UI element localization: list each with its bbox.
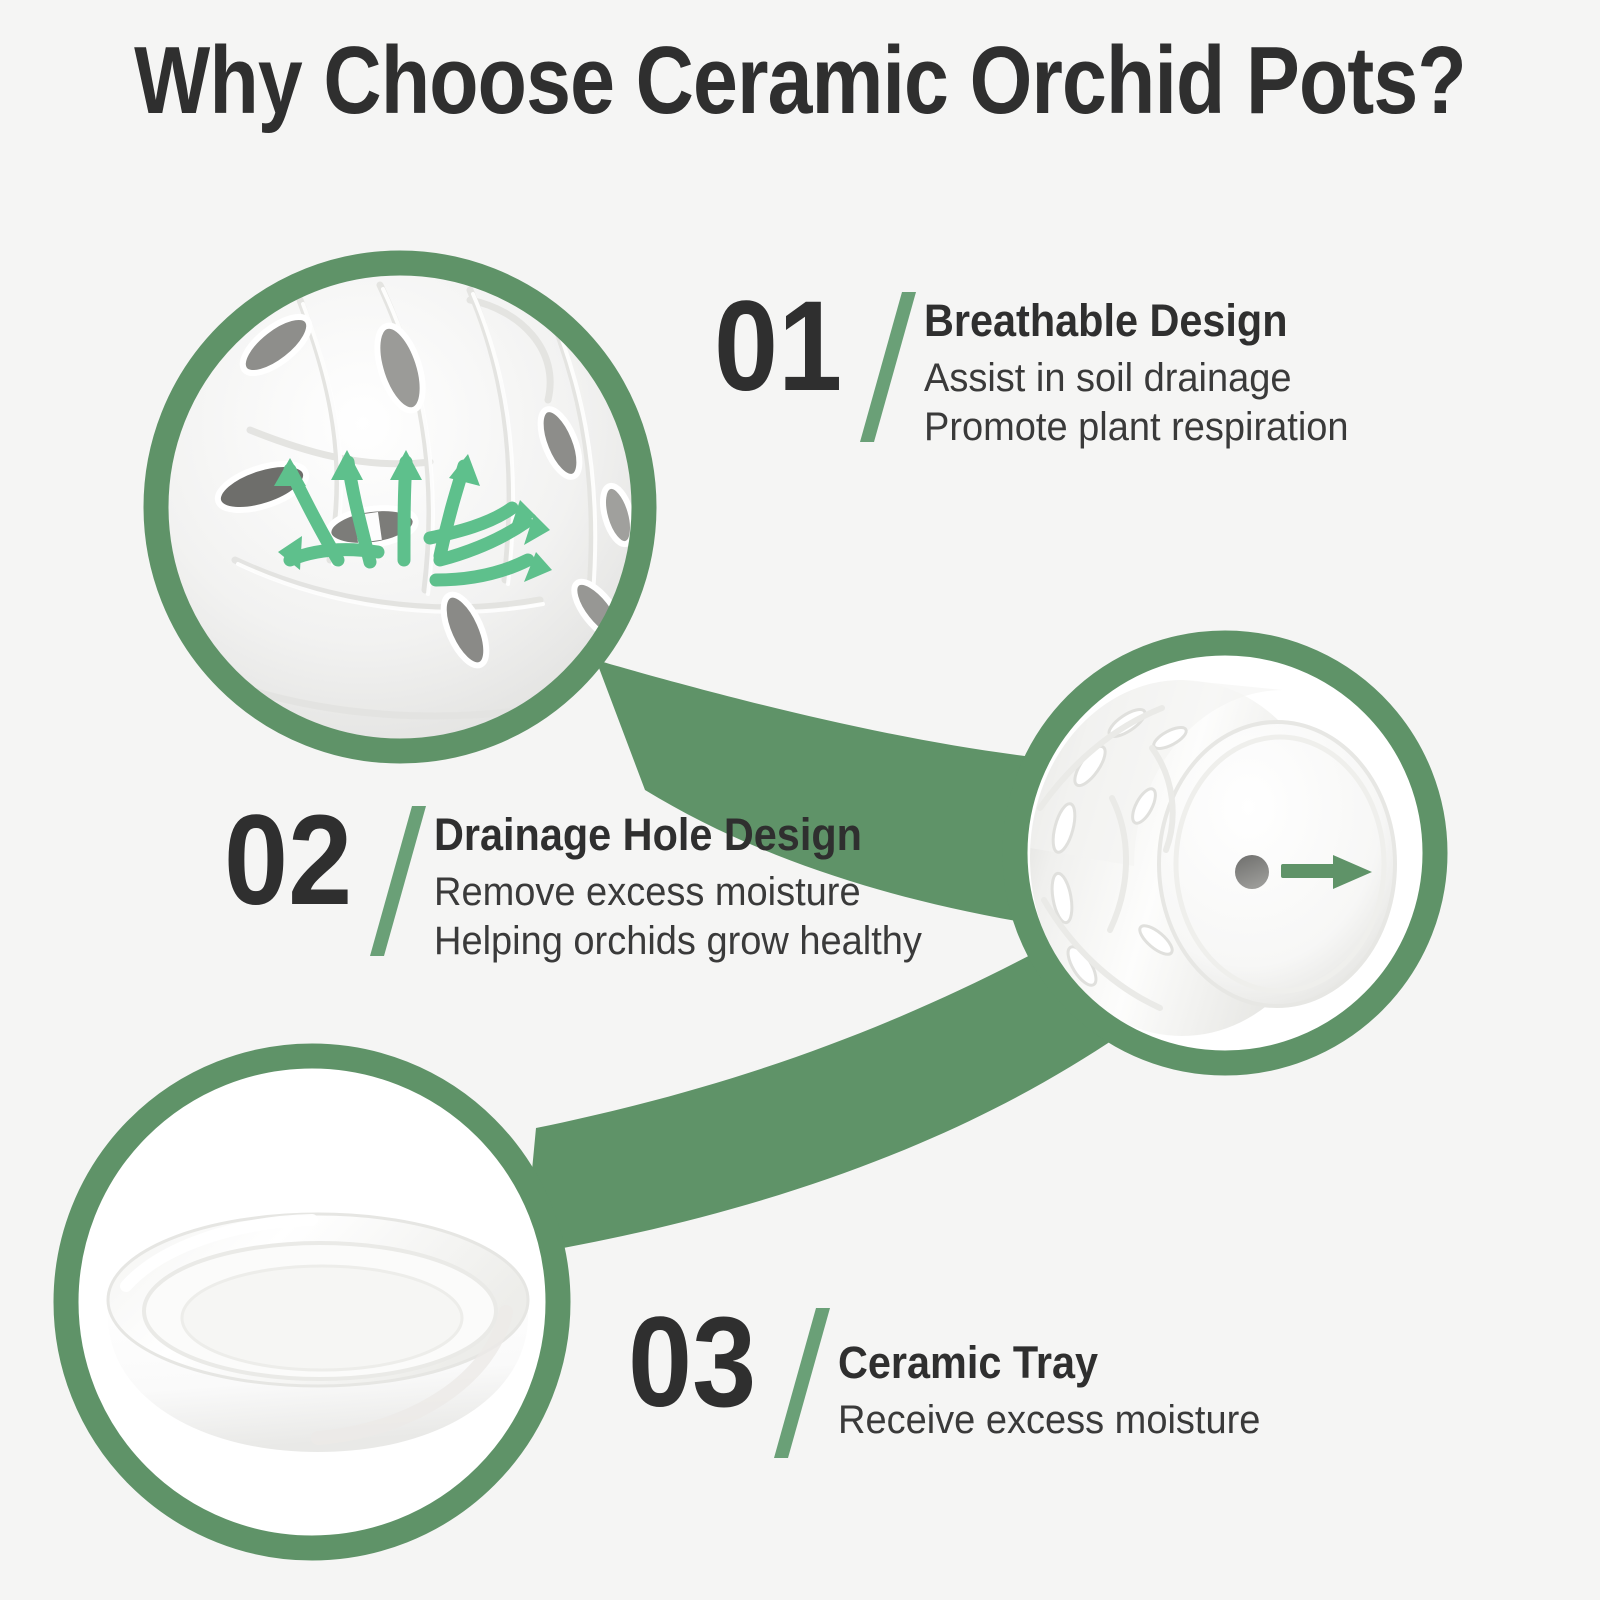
- feature-block-2: 02 Drainage Hole Design Remove excess mo…: [224, 800, 948, 966]
- feature-heading-1: Breathable Design: [924, 296, 1335, 346]
- feature-heading-3: Ceramic Tray: [838, 1338, 1247, 1388]
- feature-text-2: Drainage Hole Design Remove excess moist…: [434, 800, 948, 966]
- feature-block-3: 03 Ceramic Tray Receive excess moisture: [628, 1302, 1283, 1458]
- feature-line-2-2: Helping orchids grow healthy: [434, 917, 922, 966]
- feature-image-3-group: [66, 1056, 558, 1548]
- feature-line-1-2: Promote plant respiration: [924, 403, 1349, 452]
- feature-image-2-group: [1015, 643, 1435, 1063]
- drainage-hole: [1235, 855, 1269, 889]
- connector-band-bottom: [524, 935, 1120, 1255]
- feature-line-2-1: Remove excess moisture: [434, 868, 922, 917]
- feature-number-3: 03: [628, 1302, 756, 1424]
- slash-divider-icon: [858, 292, 918, 442]
- feature-text-1: Breathable Design Assist in soil drainag…: [924, 286, 1371, 452]
- feature-image-1-group: [156, 263, 644, 751]
- feature-line-3-1: Receive excess moisture: [838, 1396, 1260, 1445]
- pot-underside-photo: [1027, 655, 1423, 1051]
- feature-text-3: Ceramic Tray Receive excess moisture: [838, 1302, 1283, 1445]
- ceramic-tray-photo: [78, 1068, 546, 1536]
- infographic-root: Why Choose Ceramic Orchid Pots?: [0, 0, 1600, 1600]
- feature-heading-2: Drainage Hole Design: [434, 810, 907, 860]
- slash-divider-icon: [772, 1308, 832, 1458]
- feature-number-2: 02: [224, 800, 352, 922]
- feature-line-1-1: Assist in soil drainage: [924, 354, 1349, 403]
- feature-block-1: 01 Breathable Design Assist in soil drai…: [714, 286, 1371, 452]
- slash-divider-icon: [368, 806, 428, 956]
- feature-number-1: 01: [714, 286, 842, 408]
